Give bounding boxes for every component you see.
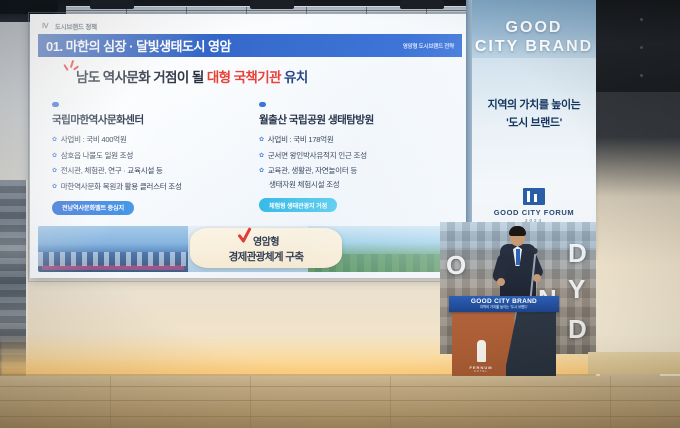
ceiling-spotlight bbox=[400, 0, 444, 9]
column-bullet-dot-icon bbox=[259, 102, 266, 107]
list-item-text: 마한역사문화 복원과 활용 클러스터 조성 bbox=[61, 182, 182, 192]
callout-line-2: 경제관광체계 구축 bbox=[229, 249, 304, 264]
gear-bullet-icon: ✿ bbox=[52, 135, 57, 145]
presentation-slide: Ⅳ 도시브랜드 정책 01. 마한의 심장 · 달빛생태도시 영암 영암형 도시… bbox=[30, 14, 468, 278]
headline-accent: 대형 국책기관 bbox=[207, 70, 281, 85]
headline-text-before: 남도 역사문화 거점이 될 bbox=[76, 70, 207, 85]
banner-title-line-1: GOOD bbox=[472, 18, 596, 37]
podium-sign-subtitle: 지역의 가치를 높이는 '도시 브랜드' bbox=[480, 305, 528, 310]
speaker-hair bbox=[509, 226, 526, 236]
gear-bullet-icon: ✿ bbox=[259, 166, 264, 176]
podium-sign-title: GOOD CITY BRAND bbox=[471, 298, 537, 305]
column-wolchulsan-eco: 월출산 국립공원 생태탐방원 ✿ 사업비 : 국비 178억원 ✿ 군서면 왕인… bbox=[259, 102, 448, 215]
breadcrumb-label: 도시브랜드 정책 bbox=[55, 21, 97, 31]
floor bbox=[0, 376, 680, 428]
column-title: 국립마한역사문화센터 bbox=[52, 112, 241, 127]
projection-screen: Ⅳ 도시브랜드 정책 01. 마한의 심장 · 달빛생태도시 영암 영암형 도시… bbox=[30, 14, 468, 278]
podium-emblem-sub: HOTEL bbox=[466, 370, 496, 373]
breadcrumb: Ⅳ 도시브랜드 정책 bbox=[42, 21, 97, 31]
conference-hall-scene: Ⅳ 도시브랜드 정책 01. 마한의 심장 · 달빛생태도시 영암 영암형 도시… bbox=[0, 0, 680, 428]
check-icon bbox=[238, 226, 258, 244]
list-item: ✿ 사업비 : 국비 178억원 bbox=[259, 135, 448, 145]
podium-sign: GOOD CITY BRAND 지역의 가치를 높이는 '도시 브랜드' bbox=[449, 296, 559, 312]
slide-title: 01. 마한의 심장 · 달빛생태도시 영암 bbox=[46, 36, 231, 55]
podium-emblem: FERNUM HOTEL bbox=[466, 340, 496, 373]
list-item-text: 삼호읍 나불도 일원 조성 bbox=[61, 151, 133, 161]
list-item: ✿ 교육관, 생활관, 자연놀이터 등 bbox=[259, 166, 448, 176]
breadcrumb-number: Ⅳ bbox=[42, 22, 49, 30]
list-item: ✿ 삼호읍 나불도 일원 조성 bbox=[52, 151, 241, 161]
speaker-tie bbox=[516, 249, 520, 265]
ceiling-spotlight bbox=[250, 0, 294, 9]
photo-ceremony bbox=[38, 226, 188, 272]
banner-logo-text: GOOD CITY FORUM bbox=[472, 208, 596, 217]
column-pill-badge: 체험형 생태관광지 거점 bbox=[259, 198, 337, 212]
column-title: 월출산 국립공원 생태탐방원 bbox=[259, 112, 448, 127]
list-item-text: 전시관, 체험관, 연구 · 교육시설 등 bbox=[61, 166, 163, 176]
banner-subtitle: 지역의 가치를 높이는 '도시 브랜드' bbox=[472, 96, 596, 132]
backdrop-letter: O bbox=[446, 250, 466, 281]
slide-callout: 영암형 경제관광체계 구축 bbox=[190, 228, 342, 268]
slide-title-bar: 01. 마한의 심장 · 달빛생태도시 영암 영암형 도시브랜드 전략 bbox=[38, 34, 462, 57]
list-item: ✿ 전시관, 체험관, 연구 · 교육시설 등 bbox=[52, 166, 241, 176]
gear-bullet-icon: ✿ bbox=[259, 151, 264, 161]
gear-bullet-icon: ✿ bbox=[52, 182, 57, 192]
banner-subtitle-line-1: 지역의 가치를 높이는 bbox=[472, 96, 596, 114]
gear-bullet-icon: ✿ bbox=[52, 151, 57, 161]
side-table bbox=[588, 352, 680, 374]
list-item-text: 사업비 : 국비 400억원 bbox=[61, 135, 127, 145]
list-item-text: 군서면 왕인박사유적지 인근 조성 bbox=[268, 151, 367, 161]
list-item: ✿ 마한역사문화 복원과 활용 클러스터 조성 bbox=[52, 182, 241, 192]
vertical-banner: GOOD CITY BRAND 지역의 가치를 높이는 '도시 브랜드' GOO… bbox=[472, 0, 596, 258]
backdrop-letter: Y bbox=[568, 274, 585, 305]
hotel-logo-icon bbox=[477, 340, 486, 362]
backdrop-letter: D bbox=[568, 314, 587, 345]
ceiling-spotlight bbox=[90, 0, 134, 9]
column-mahan-center: 국립마한역사문화센터 ✿ 사업비 : 국비 400억원 ✿ 삼호읍 나불도 일원… bbox=[52, 102, 241, 215]
slide-title-tag: 영암형 도시브랜드 전략 bbox=[403, 42, 454, 50]
list-item-text: 사업비 : 국비 178억원 bbox=[268, 135, 334, 145]
speaker-hand-left bbox=[497, 278, 505, 286]
backdrop-letter: D bbox=[568, 238, 587, 269]
list-item-text: 교육관, 생활관, 자연놀이터 등 bbox=[268, 166, 357, 176]
list-item-continuation: 생태자원 체험시설 조성 bbox=[269, 180, 448, 190]
speaker-hand-right bbox=[533, 274, 541, 282]
banner-title-line-2: CITY BRAND bbox=[472, 37, 596, 56]
gear-bullet-icon: ✿ bbox=[52, 166, 57, 176]
list-item: ✿ 군서면 왕인박사유적지 인근 조성 bbox=[259, 151, 448, 161]
banner-subtitle-line-2: '도시 브랜드' bbox=[472, 114, 596, 132]
slide-headline: 남도 역사문화 거점이 될 대형 국책기관 유치 bbox=[76, 66, 308, 86]
column-bullet-dot-icon bbox=[52, 102, 59, 107]
forum-logo-icon bbox=[523, 188, 545, 205]
slide-columns: 국립마한역사문화센터 ✿ 사업비 : 국비 400억원 ✿ 삼호읍 나불도 일원… bbox=[52, 102, 448, 215]
column-pill-badge: 전남역사문화벨트 중심지 bbox=[52, 201, 134, 215]
banner-title: GOOD CITY BRAND bbox=[472, 18, 596, 56]
banner-logo: GOOD CITY FORUM 2024 bbox=[472, 188, 596, 223]
pa-speaker-stack bbox=[596, 0, 680, 92]
gear-bullet-icon: ✿ bbox=[259, 135, 264, 145]
list-item: ✿ 사업비 : 국비 400억원 bbox=[52, 135, 241, 145]
headline-text-after: 유치 bbox=[281, 70, 308, 85]
